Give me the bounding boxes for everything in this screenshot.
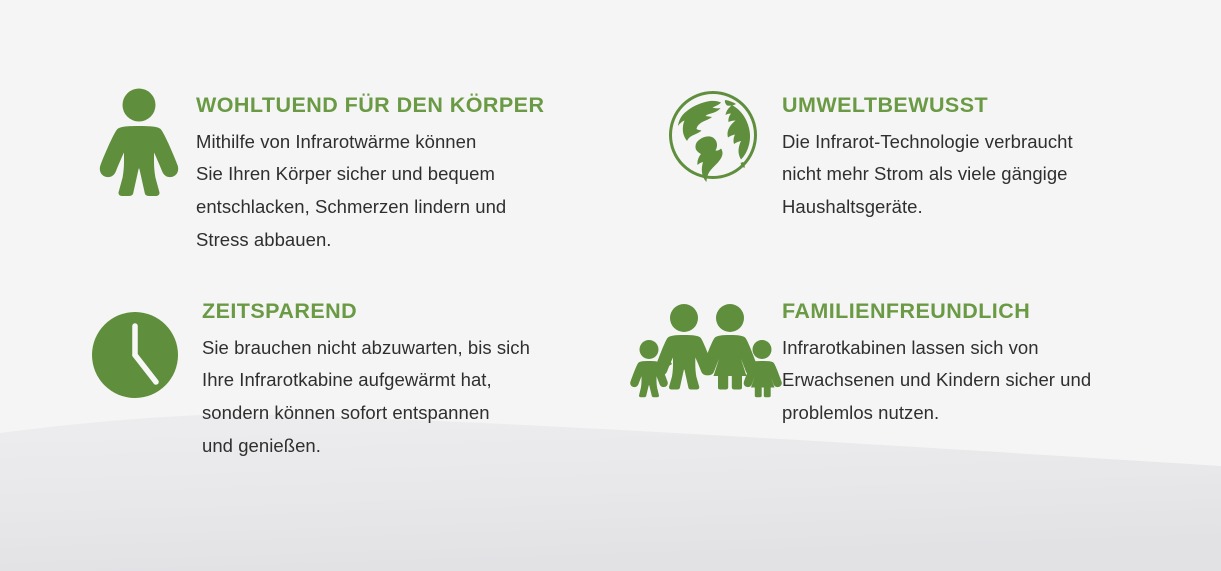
feature-body-line: entschlacken, Schmerzen lindern und	[196, 191, 614, 224]
feature-body-line: und genießen.	[202, 430, 608, 463]
feature-block-timesaving: ZEITSPAREND Sie brauchen nicht abzuwarte…	[88, 292, 608, 462]
feature-title-family: FAMILIENFREUNDLICH	[782, 301, 1148, 323]
feature-text-timesaving: ZEITSPAREND Sie brauchen nicht abzuwarte…	[202, 292, 608, 462]
feature-body-line: Sie Ihren Körper sicher und bequem	[196, 158, 614, 191]
feature-body-line: Erwachsenen und Kindern sicher und	[782, 364, 1148, 397]
feature-title-body-care: WOHLTUEND FÜR DEN KÖRPER	[196, 95, 614, 117]
feature-text-eco: UMWELTBEWUSST Die Infrarot-Technologie v…	[782, 86, 1160, 224]
clock-icon	[88, 292, 196, 392]
person-icon	[94, 86, 196, 196]
feature-body-line: Haushaltsgeräte.	[782, 191, 1160, 224]
feature-block-family: FAMILIENFREUNDLICH Infrarotkabinen lasse…	[628, 292, 1148, 430]
feature-body-family: Infrarotkabinen lassen sich von Erwachse…	[782, 332, 1148, 430]
feature-body-line: Die Infrarot-Technologie verbraucht	[782, 126, 1160, 159]
clock-icon-wrapper	[88, 292, 196, 392]
globe-icon	[660, 86, 778, 186]
globe-icon-wrapper	[660, 86, 778, 186]
feature-body-timesaving: Sie brauchen nicht abzuwarten, bis sich …	[202, 332, 608, 463]
feature-body-line: problemlos nutzen.	[782, 397, 1148, 430]
feature-text-body-care: WOHLTUEND FÜR DEN KÖRPER Mithilfe von In…	[196, 86, 614, 256]
feature-title-timesaving: ZEITSPAREND	[202, 301, 608, 323]
feature-body-body-care: Mithilfe von Infrarotwärme können Sie Ih…	[196, 126, 614, 257]
feature-body-line: Sie brauchen nicht abzuwarten, bis sich	[202, 332, 608, 365]
feature-body-line: Infrarotkabinen lassen sich von	[782, 332, 1148, 365]
feature-body-line: Stress abbauen.	[196, 224, 614, 257]
feature-body-line: Ihre Infrarotkabine aufgewärmt hat,	[202, 364, 608, 397]
feature-body-eco: Die Infrarot-Technologie verbraucht nich…	[782, 126, 1160, 224]
feature-body-line: nicht mehr Strom als viele gängige	[782, 158, 1160, 191]
feature-title-eco: UMWELTBEWUSST	[782, 95, 1160, 117]
feature-block-eco: UMWELTBEWUSST Die Infrarot-Technologie v…	[660, 86, 1160, 224]
family-icon-wrapper	[628, 292, 780, 392]
family-icon	[628, 292, 780, 392]
feature-body-line: sondern können sofort entspannen	[202, 397, 608, 430]
feature-highlights-panel: WOHLTUEND FÜR DEN KÖRPER Mithilfe von In…	[0, 0, 1221, 571]
feature-block-body-care: WOHLTUEND FÜR DEN KÖRPER Mithilfe von In…	[94, 86, 614, 256]
feature-body-line: Mithilfe von Infrarotwärme können	[196, 126, 614, 159]
feature-text-family: FAMILIENFREUNDLICH Infrarotkabinen lasse…	[782, 292, 1148, 430]
person-icon-wrapper	[94, 86, 196, 196]
